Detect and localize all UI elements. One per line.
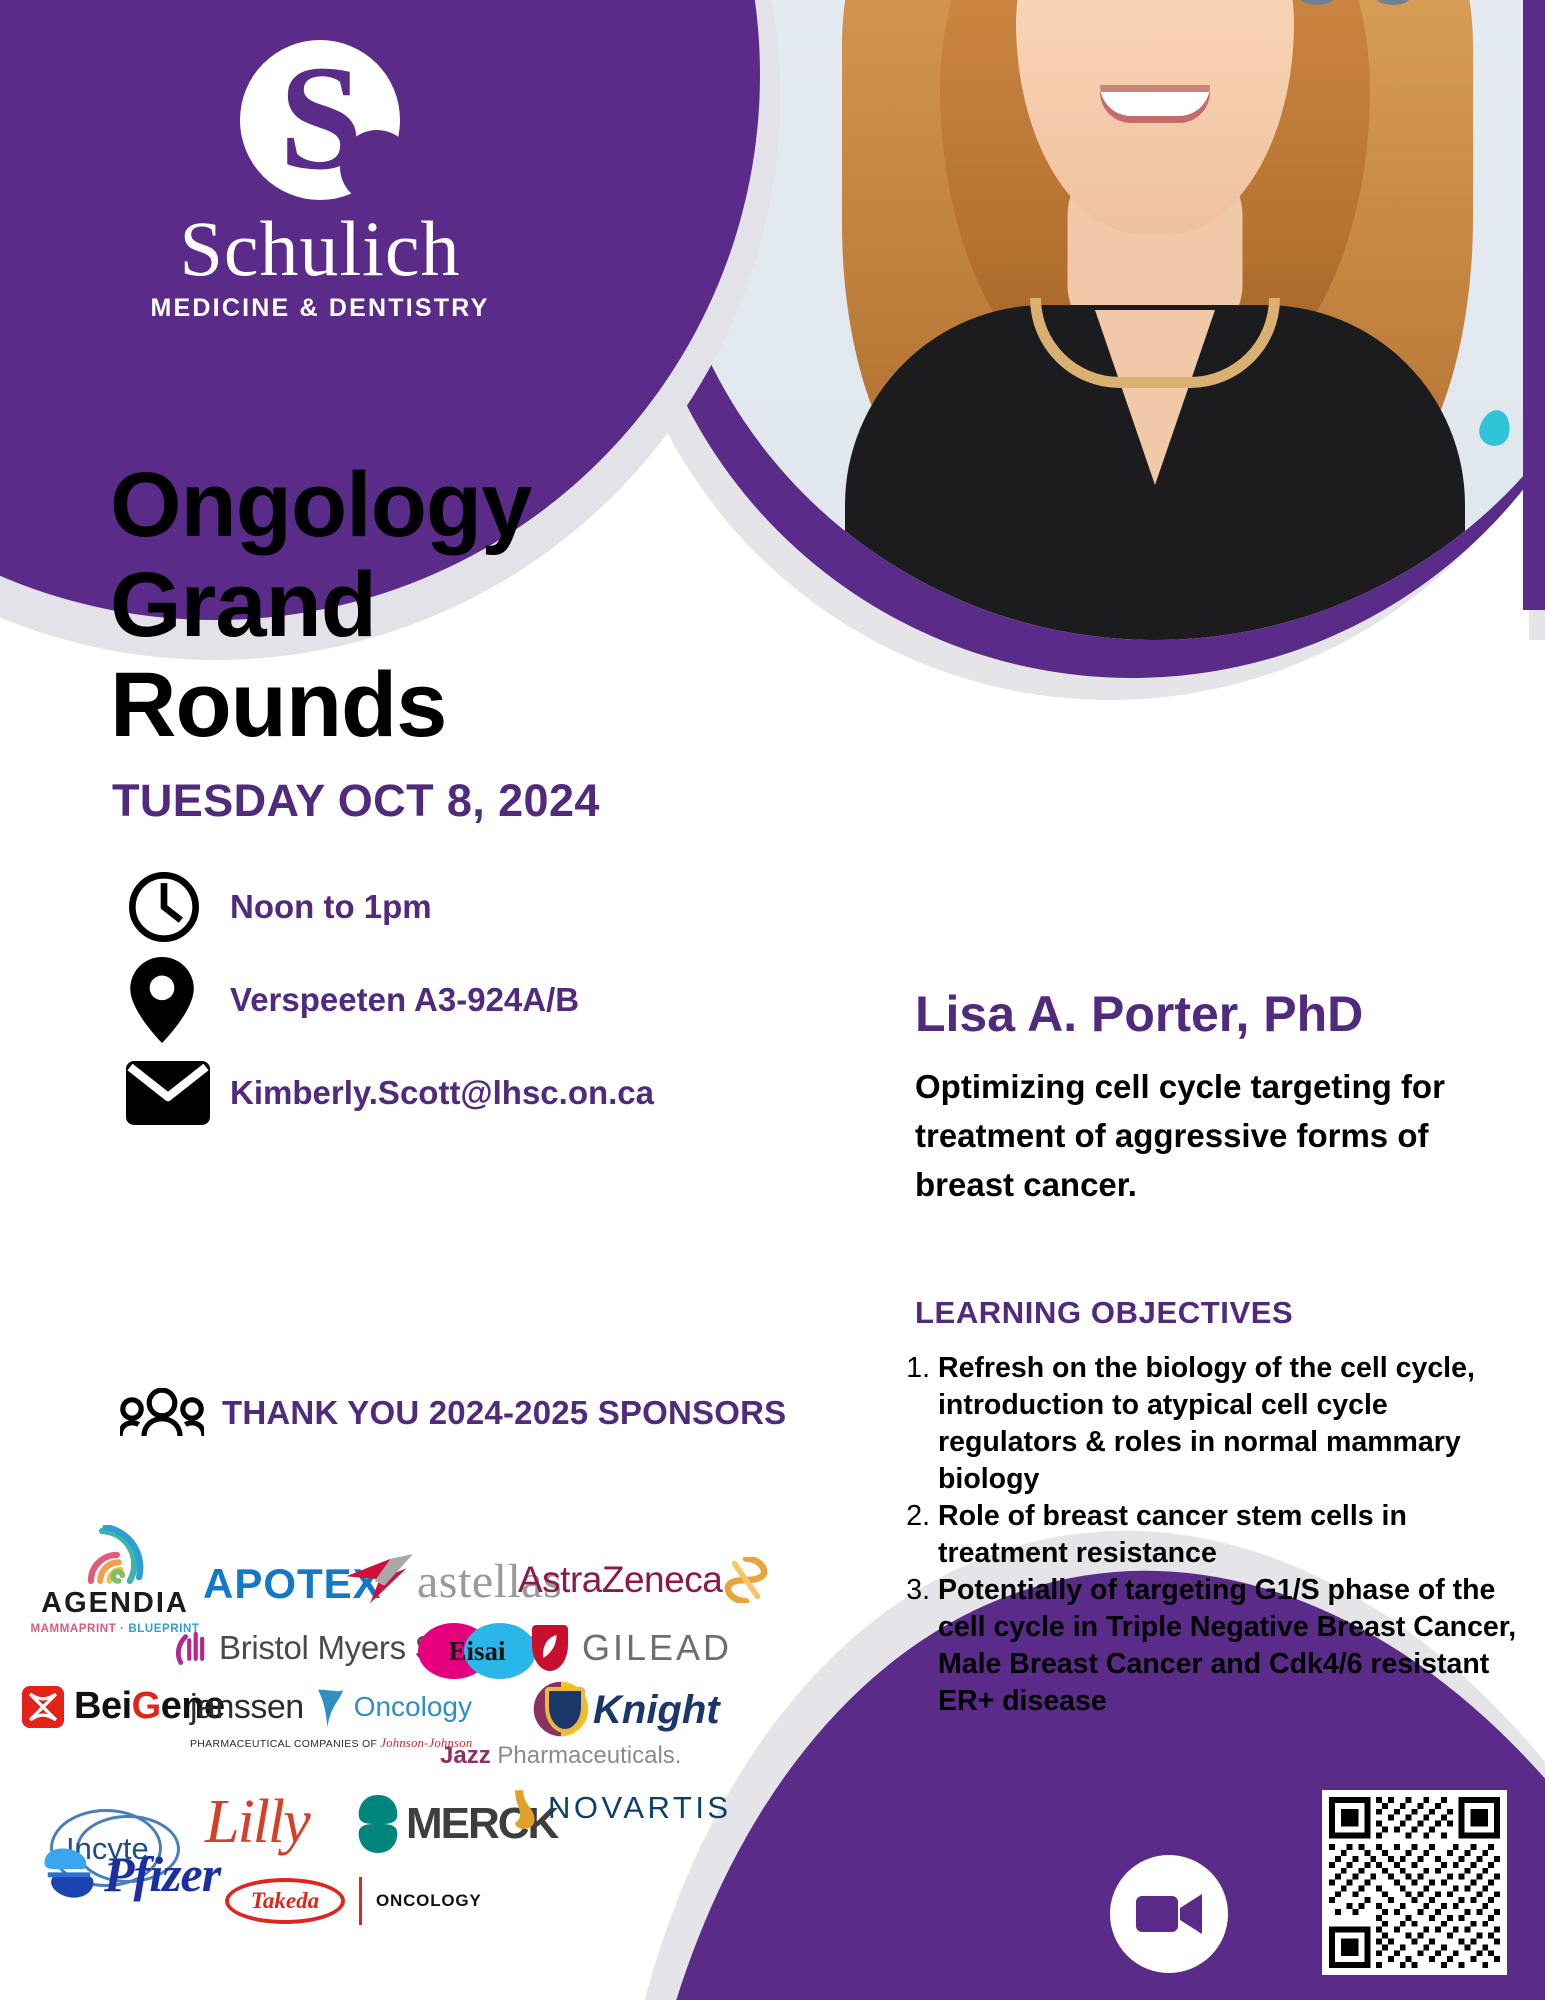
list-item-number: 3. [898, 1572, 938, 1720]
sponsor-logo-lilly: Lilly [205, 1787, 309, 1858]
sponsor-logo-agendia: AGENDIA MAMMAPRINT · BLUEPRINT [30, 1525, 200, 1635]
sponsor-tagline: PHARMACEUTICAL COMPANIES OF Johnson-John… [190, 1736, 472, 1751]
list-item-text: Potentially of targeting G1/S phase of t… [938, 1572, 1518, 1720]
title-line-1: Ongology [110, 455, 531, 555]
speaker-name: Lisa A. Porter, PhD [915, 985, 1363, 1043]
sponsor-name: NOVARTIS [548, 1790, 732, 1826]
learning-objectives-heading: LEARNING OBJECTIVES [915, 1295, 1293, 1331]
sponsor-logo-takeda: Takeda ONCOLOGY [225, 1877, 482, 1925]
learning-objectives-list: 1. Refresh on the biology of the cell cy… [898, 1350, 1518, 1720]
sponsor-name: Knight [593, 1688, 720, 1733]
page-title: Ongology Grand Rounds [110, 455, 531, 755]
map-pin-icon [112, 957, 222, 1043]
merck-emblem-icon [358, 1795, 398, 1853]
list-item: 3. Potentially of targeting G1/S phase o… [898, 1572, 1518, 1720]
janssen-tick-icon [312, 1685, 346, 1729]
sponsor-name: AGENDIA [30, 1587, 200, 1620]
gilead-shield-icon [532, 1625, 568, 1671]
sponsor-name: janssen [190, 1688, 304, 1727]
envelope-icon [112, 1061, 222, 1125]
beigene-emblem-icon [22, 1686, 64, 1728]
list-item-number: 1. [898, 1350, 938, 1498]
event-email[interactable]: Kimberly.Scott@lhsc.on.ca [222, 1074, 654, 1112]
astellas-star-icon [343, 1553, 413, 1609]
sponsor-logo-janssen: janssen Oncology PHARMACEUTICAL COMPANIE… [190, 1685, 472, 1751]
novartis-flame-icon [510, 1787, 538, 1829]
event-location-row: Verspeeten A3-924A/B [112, 953, 732, 1046]
title-line-2: Grand [110, 555, 531, 655]
poster-canvas: S Schulich MEDICINE & DENTISTRY Ongology… [0, 0, 1545, 2000]
logo-wordmark: Schulich [130, 208, 510, 290]
logo-subtitle: MEDICINE & DENTISTRY [130, 294, 510, 323]
event-details: Noon to 1pm Verspeeten A3-924A/B Kimberl… [112, 860, 732, 1139]
event-time-row: Noon to 1pm [112, 860, 732, 953]
sponsor-name: Eisai [418, 1623, 536, 1679]
pfizer-emblem-icon [38, 1846, 100, 1902]
title-line-3: Rounds [110, 655, 531, 755]
sponsor-name-secondary: ONCOLOGY [376, 1891, 482, 1911]
bms-flame-icon [175, 1627, 209, 1669]
takeda-oval-icon: Takeda [225, 1878, 345, 1924]
sponsor-logo-eisai: Eisai [418, 1623, 536, 1679]
speaker-portrait [660, 0, 1545, 640]
event-email-row: Kimberly.Scott@lhsc.on.ca [112, 1046, 732, 1139]
sponsor-name: GILEAD [582, 1627, 732, 1669]
sponsor-logo-pfizer: Pfizer [38, 1845, 220, 1903]
agendia-spiral-icon [78, 1525, 152, 1585]
divider [359, 1877, 362, 1925]
astrazeneca-ribbon-icon [724, 1557, 768, 1603]
list-item: 2. Role of breast cancer stem cells in t… [898, 1498, 1518, 1572]
sponsor-name: AstraZeneca [518, 1559, 722, 1601]
schulich-logo: S Schulich MEDICINE & DENTISTRY [130, 40, 510, 323]
list-item-text: Role of breast cancer stem cells in trea… [938, 1498, 1518, 1572]
right-edge-purple [1523, 0, 1545, 610]
sponsors-heading: THANK YOU 2024-2025 SPONSORS [222, 1394, 786, 1432]
sponsor-logo-novartis: NOVARTIS [510, 1787, 732, 1829]
schulich-logo-mark: S [240, 40, 400, 200]
list-item-number: 2. [898, 1498, 938, 1572]
people-group-icon [112, 1388, 222, 1438]
qr-code-icon[interactable] [1322, 1790, 1507, 1975]
sponsor-name: Takeda [251, 1888, 319, 1914]
clock-icon [112, 869, 222, 945]
knight-shield-icon [545, 1687, 585, 1733]
sponsor-logos: AGENDIA MAMMAPRINT · BLUEPRINT APOTEX as… [0, 1505, 900, 1985]
sponsor-name: Pfizer [104, 1845, 220, 1903]
event-location: Verspeeten A3-924A/B [222, 981, 579, 1019]
sponsor-logo-gilead: GILEAD [532, 1625, 732, 1671]
list-item-text: Refresh on the biology of the cell cycle… [938, 1350, 1518, 1498]
sponsor-logo-astrazeneca: AstraZeneca [518, 1557, 768, 1603]
event-date: TUESDAY OCT 8, 2024 [112, 775, 600, 827]
sponsor-name: Jazz Pharmaceuticals. [440, 1742, 681, 1770]
list-item: 1. Refresh on the biology of the cell cy… [898, 1350, 1518, 1498]
sponsor-logo-knight: Knight [545, 1687, 720, 1733]
talk-title: Optimizing cell cycle targeting for trea… [915, 1062, 1515, 1209]
event-time: Noon to 1pm [222, 888, 432, 926]
sponsors-heading-row: THANK YOU 2024-2025 SPONSORS [112, 1388, 752, 1438]
video-camera-icon[interactable] [1110, 1855, 1228, 1973]
